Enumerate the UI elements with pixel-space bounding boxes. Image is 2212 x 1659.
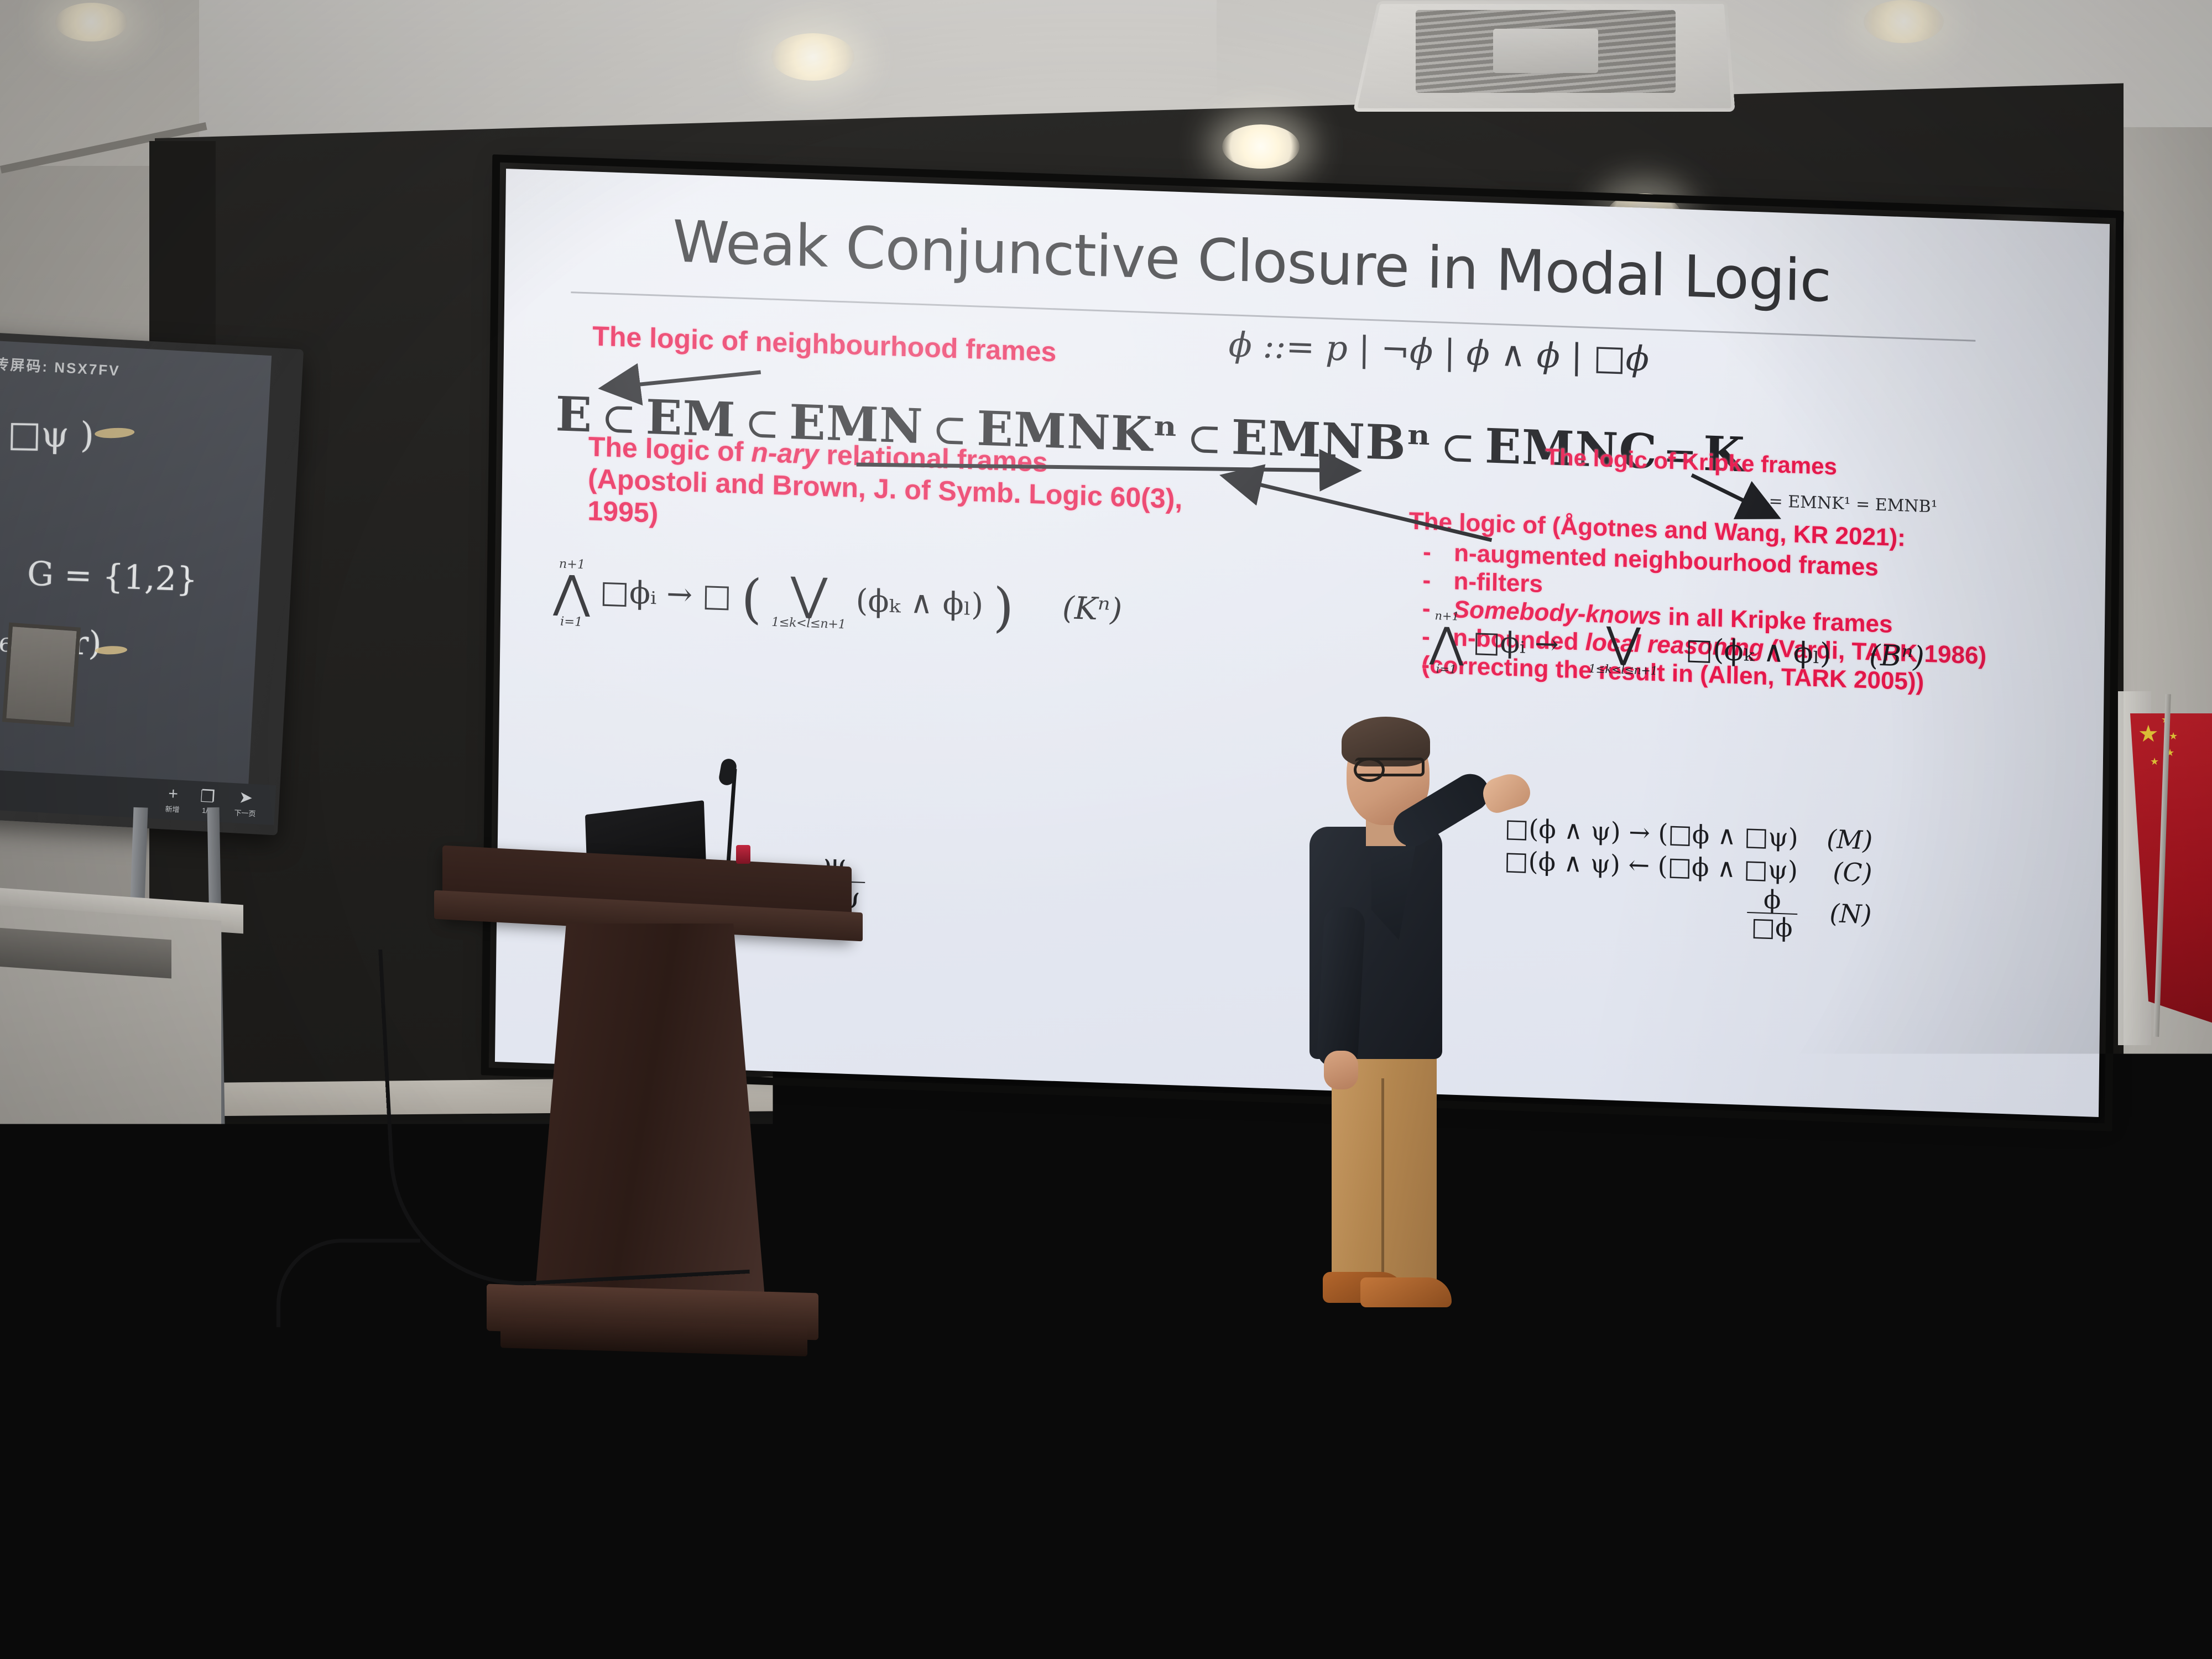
next-page-icon: ➤ <box>234 789 257 807</box>
ac-vent-center <box>1493 29 1598 73</box>
wall-picture-frame <box>2 623 81 727</box>
presenter-hand-lowered <box>1324 1051 1358 1089</box>
toolbar-next-page-button[interactable]: ➤ 下一页 <box>234 789 257 818</box>
glasses-icon <box>1355 758 1425 776</box>
caster-wheel <box>55 1316 96 1357</box>
plus-icon: + <box>165 785 181 802</box>
ceiling-light <box>1222 124 1300 169</box>
flag-star-icon: ★ <box>2138 722 2159 745</box>
podium-power-cable <box>378 931 750 1292</box>
presenter-shoe-right <box>1360 1277 1452 1307</box>
ceiling-light <box>55 3 127 41</box>
ceiling-light <box>771 33 854 81</box>
presenter <box>1288 724 1499 1222</box>
caster-wheel <box>221 1360 262 1401</box>
presenter-leg-seam <box>1381 1078 1384 1283</box>
pages-icon: ❐ <box>200 788 215 805</box>
cast-code-label: 传屏码: NSX7FV <box>0 353 121 380</box>
toolbar-add-button[interactable]: + 新增 <box>165 785 181 814</box>
presenter-arm-lowered <box>1316 906 1365 1068</box>
handwriting-line-1: ϕ ∧ □ψ ) <box>0 413 95 456</box>
flag-star-icon: ★ <box>2150 757 2159 766</box>
handwriting-line-2: G = {1,2} <box>27 555 198 599</box>
ink-highlight <box>95 427 135 439</box>
flag-star-icon: ★ <box>2169 731 2178 741</box>
ceiling-light <box>1864 0 1944 43</box>
podium-red-button[interactable] <box>736 845 750 864</box>
ink-highlight <box>95 645 127 655</box>
lecture-hall-scene: Weak Conjunctive Closure in Modal Logic … <box>0 0 2212 1659</box>
